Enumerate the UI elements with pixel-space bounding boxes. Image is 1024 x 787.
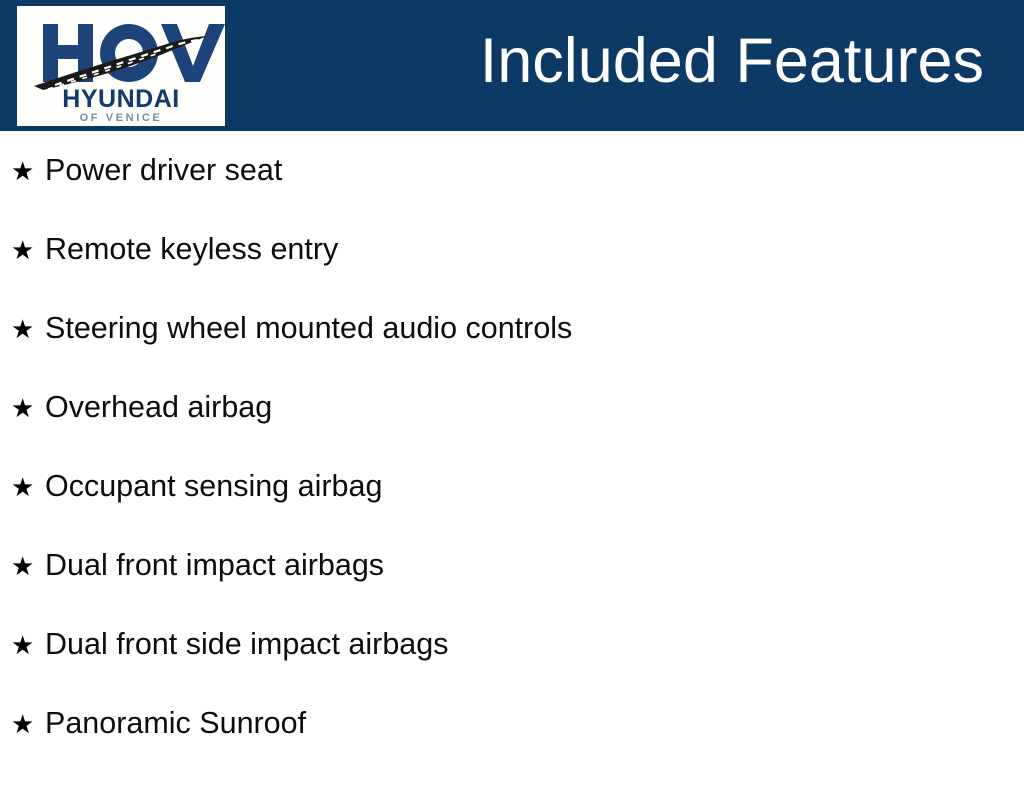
star-icon: ★ xyxy=(11,316,45,342)
slide-canvas: Included Features HYUNDA xyxy=(0,0,1024,768)
feature-label: Dual front impact airbags xyxy=(45,550,1024,581)
svg-text:HYUNDAI: HYUNDAI xyxy=(62,85,179,113)
list-item: ★ Dual front impact airbags xyxy=(0,550,1024,629)
list-item: ★ Overhead airbag xyxy=(0,392,1024,471)
feature-label: Power driver seat xyxy=(45,155,1024,186)
page-title: Included Features xyxy=(480,28,984,94)
svg-text:OF VENICE: OF VENICE xyxy=(80,112,163,124)
feature-label: Steering wheel mounted audio controls xyxy=(45,313,1024,344)
feature-label: Panoramic Sunroof xyxy=(45,708,1024,739)
star-icon: ★ xyxy=(11,553,45,579)
star-icon: ★ xyxy=(11,395,45,421)
star-icon: ★ xyxy=(11,632,45,658)
feature-label: Occupant sensing airbag xyxy=(45,471,1024,502)
list-item: ★ Panoramic Sunroof xyxy=(0,708,1024,787)
star-icon: ★ xyxy=(11,474,45,500)
list-item: ★ Power driver seat xyxy=(0,131,1024,234)
star-icon: ★ xyxy=(11,158,45,184)
list-item: ★ Steering wheel mounted audio controls xyxy=(0,313,1024,392)
feature-label: Remote keyless entry xyxy=(45,234,1024,265)
feature-label: Dual front side impact airbags xyxy=(45,629,1024,660)
star-icon: ★ xyxy=(11,711,45,737)
list-item: ★ Remote keyless entry xyxy=(0,234,1024,313)
list-item: ★ Occupant sensing airbag xyxy=(0,471,1024,550)
dealer-logo: HYUNDAI OF VENICE xyxy=(17,6,225,126)
list-item: ★ Dual front side impact airbags xyxy=(0,629,1024,708)
hov-hyundai-logo-icon: HYUNDAI OF VENICE xyxy=(17,6,225,126)
feature-label: Overhead airbag xyxy=(45,392,1024,423)
included-features-list: ★ Power driver seat ★ Remote keyless ent… xyxy=(0,131,1024,787)
star-icon: ★ xyxy=(11,237,45,263)
